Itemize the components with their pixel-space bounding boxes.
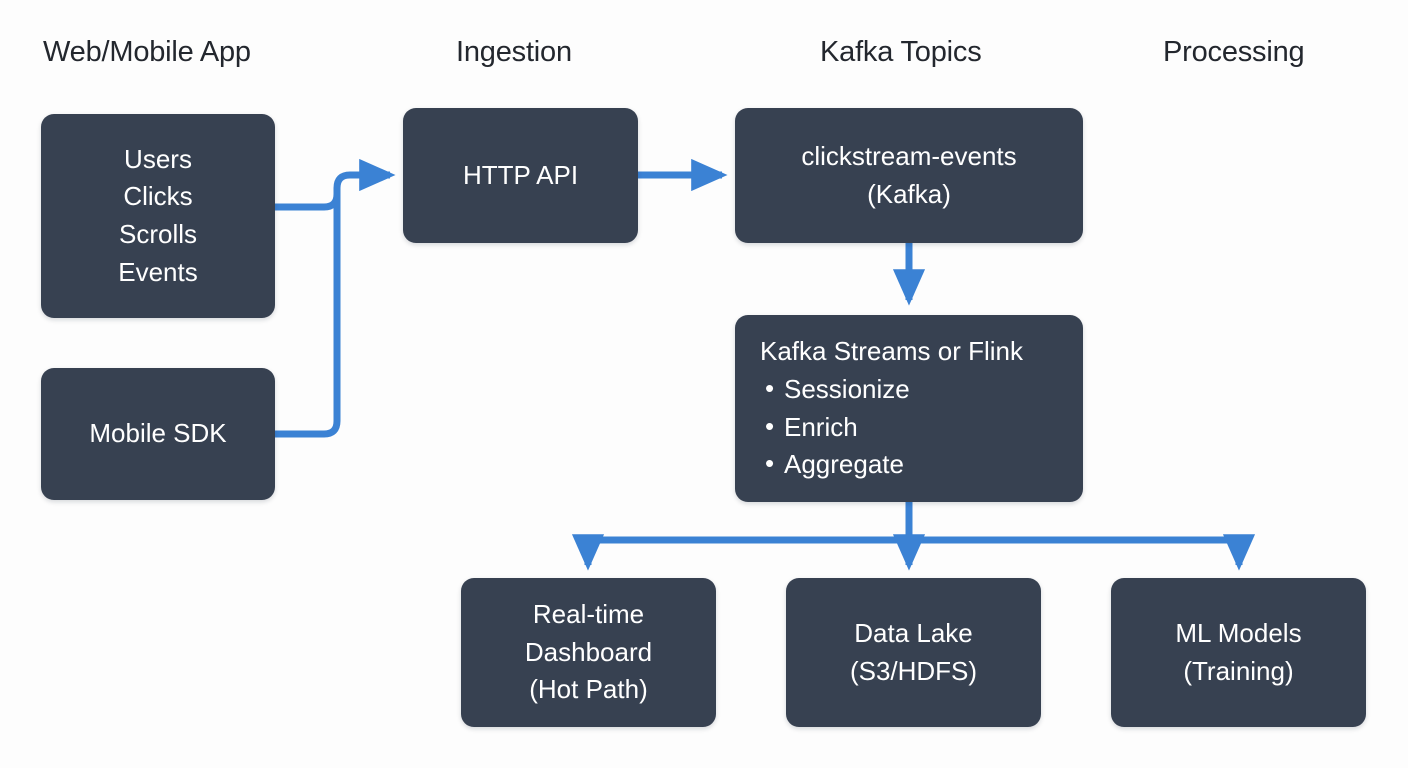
node-http-api[interactable]: HTTP API [403,108,638,243]
processing-step: Sessionize [760,371,910,409]
node-mobile-sdk[interactable]: Mobile SDK [41,368,275,500]
diagram-canvas: Web/Mobile App Ingestion Kafka Topics Pr… [0,0,1408,768]
column-header-ingestion: Ingestion [456,38,572,67]
node-line: Clicks [123,178,192,216]
node-ml-models[interactable]: ML Models (Training) [1111,578,1366,727]
node-title: Kafka Streams or Flink [760,333,1023,371]
node-line: Real-time [533,596,644,634]
node-line: HTTP API [463,157,578,195]
processing-steps-list: Sessionize Enrich Aggregate [760,371,910,484]
edge-mobile-sdk-to-merge [275,188,337,434]
node-line: (S3/HDFS) [850,653,977,691]
node-line: Data Lake [854,615,973,653]
node-stream-processing[interactable]: Kafka Streams or Flink Sessionize Enrich… [735,315,1083,502]
column-header-kafka-topics: Kafka Topics [820,38,982,67]
node-line: Mobile SDK [89,415,226,453]
node-line: Scrolls [119,216,197,254]
node-line: Events [118,254,198,292]
edge-merge-to-http-api [337,175,390,188]
node-realtime-dashboard[interactable]: Real-time Dashboard (Hot Path) [461,578,716,727]
node-line: Users [124,141,192,179]
processing-step: Aggregate [760,446,910,484]
column-header-processing: Processing [1163,38,1304,67]
node-line: clickstream-events [801,138,1016,176]
edge-client-events-to-merge [275,188,337,207]
node-clickstream-events-topic[interactable]: clickstream-events (Kafka) [735,108,1083,243]
node-line: (Training) [1183,653,1293,691]
node-line: ML Models [1175,615,1301,653]
node-data-lake[interactable]: Data Lake (S3/HDFS) [786,578,1041,727]
node-line: (Hot Path) [529,671,648,709]
node-client-events[interactable]: Users Clicks Scrolls Events [41,114,275,318]
edge-bus-to-ml-models [909,540,1239,565]
processing-step: Enrich [760,409,910,447]
edge-bus-to-dashboard [588,540,909,565]
column-header-web-mobile-app: Web/Mobile App [43,38,251,67]
node-line: Dashboard [525,634,652,672]
node-line: (Kafka) [867,176,951,214]
